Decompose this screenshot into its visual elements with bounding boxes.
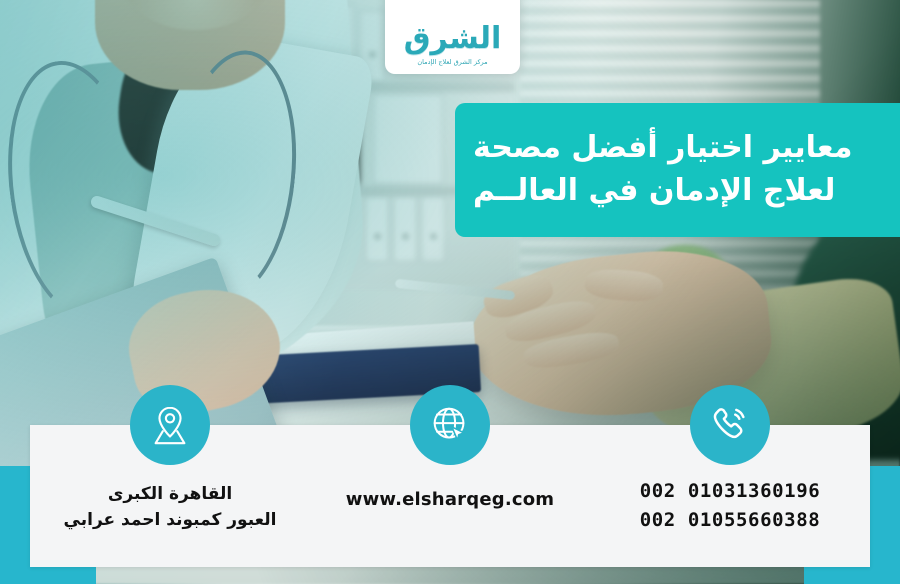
phone-number-2[interactable]: 002 01055660388 (590, 506, 870, 535)
contact-location: القاهرة الكبرى العبور كمبوند احمد عرابي (30, 425, 310, 567)
location-line-1: القاهرة الكبرى (30, 481, 310, 507)
promo-banner: الشرق مركز الشرق لعلاج الإدمان معايير اخ… (0, 0, 900, 584)
headline-line-2: لعلاج الإدمان في العالــم (473, 170, 835, 213)
contact-website: www.elsharqeg.com (310, 425, 590, 567)
contact-phone: 002 01031360196 002 01055660388 (590, 425, 870, 567)
headline-line-1: معايير اختيار أفضل مصحة (473, 127, 852, 170)
logo-subtitle: مركز الشرق لعلاج الإدمان (417, 58, 487, 66)
website-url[interactable]: www.elsharqeg.com (310, 489, 590, 510)
map-pin-icon[interactable] (130, 385, 210, 465)
logo-mark: الشرق (404, 24, 502, 54)
headline-banner: معايير اختيار أفضل مصحة لعلاج الإدمان في… (455, 103, 900, 237)
globe-cursor-icon[interactable] (410, 385, 490, 465)
phone-ringing-icon[interactable] (690, 385, 770, 465)
phone-number-1[interactable]: 002 01031360196 (590, 477, 870, 506)
logo-badge[interactable]: الشرق مركز الشرق لعلاج الإدمان (385, 0, 520, 74)
location-line-2: العبور كمبوند احمد عرابي (30, 507, 310, 533)
